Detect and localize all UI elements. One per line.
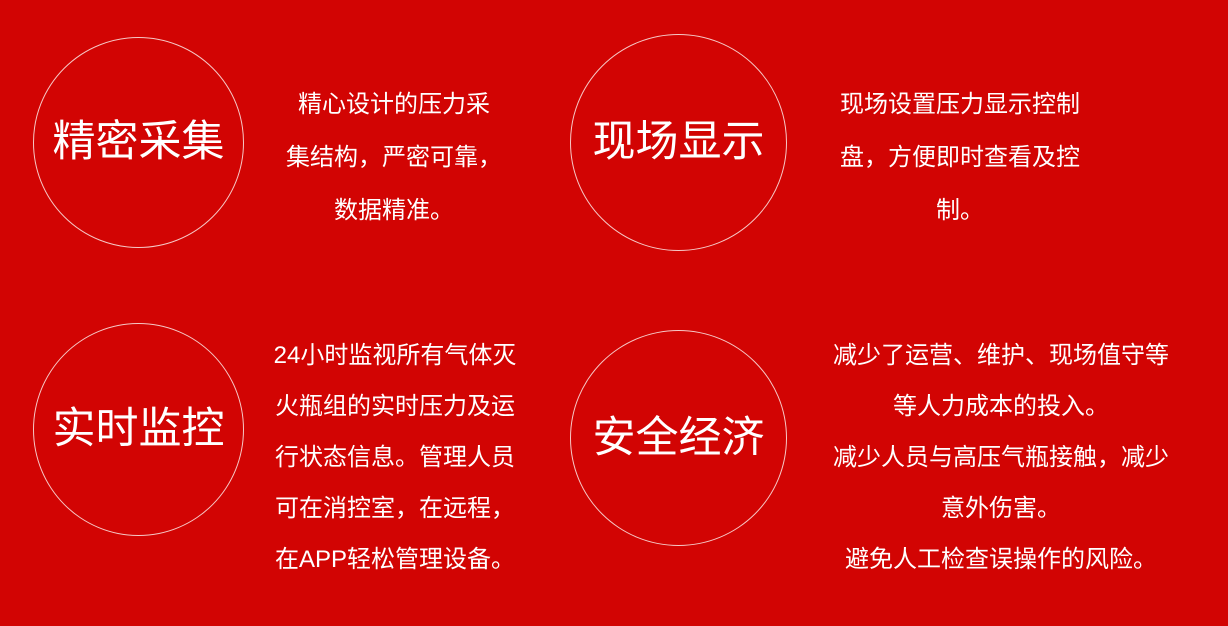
feature-title-safe-economical: 安全经济	[593, 417, 765, 460]
feature-description-onsite-display: 现场设置压力显示控制 盘，方便即时查看及控 制。	[812, 78, 1108, 237]
feature-description-safe-economical: 减少了运营、维护、现场值守等 等人力成本的投入。 减少人员与高压气瓶接触，减少 …	[805, 330, 1197, 585]
feature-circle-safe-economical: 安全经济	[570, 330, 787, 546]
feature-circle-precision-collection: 精密采集	[33, 37, 244, 248]
feature-title-precision-collection: 精密采集	[53, 121, 225, 164]
feature-circle-onsite-display: 现场显示	[570, 34, 787, 251]
feature-description-precision-collection: 精心设计的压力采 集结构，严密可靠， 数据精准。	[249, 78, 539, 237]
feature-circle-realtime-monitoring: 实时监控	[33, 323, 244, 536]
feature-description-realtime-monitoring: 24小时监视所有气体灭 火瓶组的实时压力及运 行状态信息。管理人员 可在消控室，…	[249, 330, 541, 585]
feature-title-onsite-display: 现场显示	[593, 121, 765, 164]
feature-board: 精密采集 精心设计的压力采 集结构，严密可靠， 数据精准。 现场显示 现场设置压…	[0, 0, 1228, 626]
feature-title-realtime-monitoring: 实时监控	[53, 408, 225, 451]
